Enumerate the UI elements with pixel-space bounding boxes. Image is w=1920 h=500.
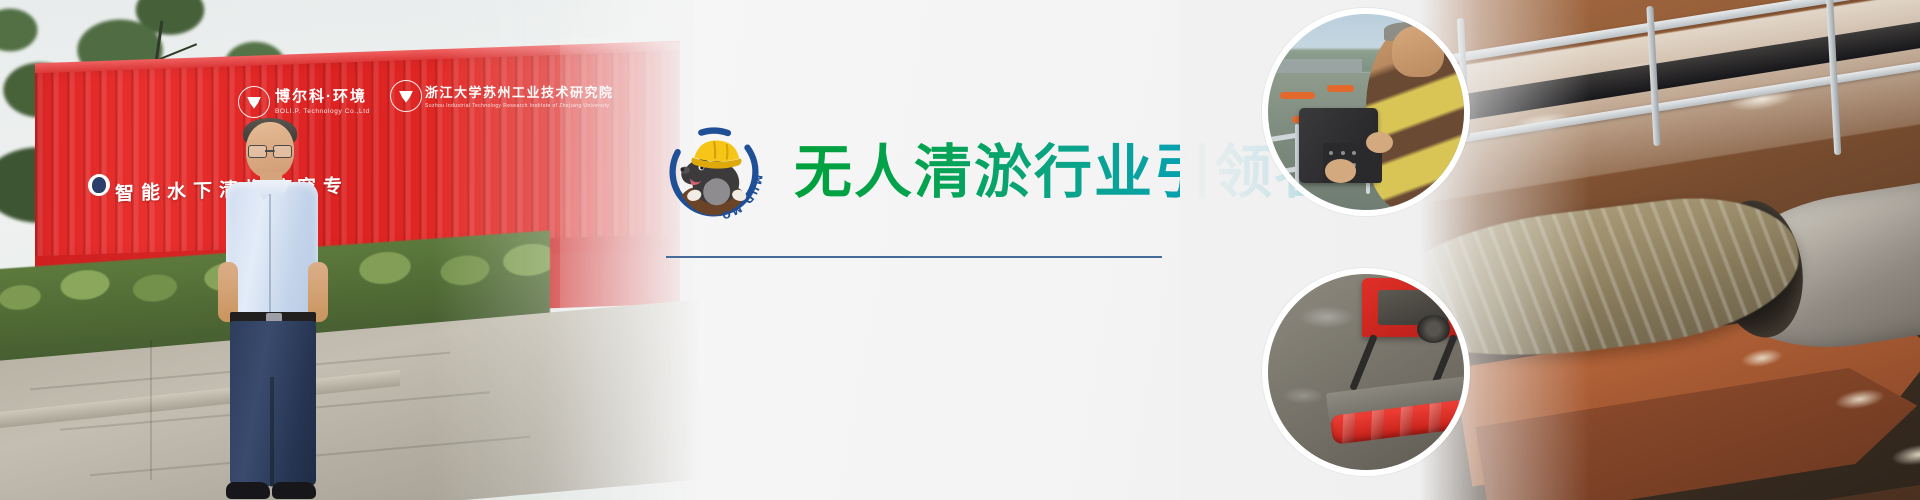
circle-photo-dredging-robot (1262, 268, 1470, 476)
mud-mole-logo: MUD MOLE (660, 118, 768, 226)
person-shoe-right (272, 482, 316, 499)
c1-panel-button (1329, 151, 1333, 155)
circle-photo-operator (1262, 8, 1470, 216)
c2-robot-wheel (1417, 315, 1450, 342)
c1-panel-button (1341, 151, 1345, 155)
c2-auger-flight (1367, 410, 1387, 441)
partner-cn: 浙江大学苏州工业技术研究院 (425, 82, 614, 101)
c2-auger-flight (1338, 413, 1358, 444)
right-backdrop-photo (1420, 0, 1920, 500)
partner-en: Suzhou Industrial Technology Research In… (425, 103, 614, 109)
c2-auger-flight (1396, 406, 1416, 437)
left-photo: 博尔科·环境 BOLI.P. Technology Co.,Ltd 浙江大学苏州… (0, 0, 700, 500)
c1-operator-head (1392, 26, 1445, 77)
jeans-seam (270, 377, 274, 487)
person-shoe-left (226, 482, 270, 499)
c1-operator-hand-left (1325, 159, 1356, 183)
eyeglasses-icon (248, 145, 292, 156)
pavement-seam (150, 340, 152, 480)
partner-emblem-icon (390, 80, 422, 112)
shirt-placket (269, 194, 271, 312)
center-content: MUD MOLE 无人清淤行业引领者 (660, 0, 1220, 500)
person-photo (212, 122, 332, 500)
c1-orange-float (1327, 85, 1354, 92)
container-brand-mark: 博尔科·环境 BOLI.P. Technology Co.,Ltd (275, 85, 370, 115)
container-partner-mark: 浙江大学苏州工业技术研究院 Suzhou Industrial Technolo… (425, 82, 614, 109)
headline-divider (666, 256, 1162, 258)
company-emblem-icon (238, 86, 270, 118)
c2-auger-flight (1424, 402, 1444, 433)
container-brand-en: BOLI.P. Technology Co.,Ltd (275, 108, 370, 115)
person-shirt (226, 182, 318, 317)
headline: 无人清淤行业引领者 (794, 142, 1340, 203)
hero-banner: 博尔科·环境 BOLI.P. Technology Co.,Ltd 浙江大学苏州… (0, 0, 1920, 500)
container-brand-cn: 博尔科·环境 (275, 85, 370, 106)
c1-orange-float (1280, 92, 1315, 99)
